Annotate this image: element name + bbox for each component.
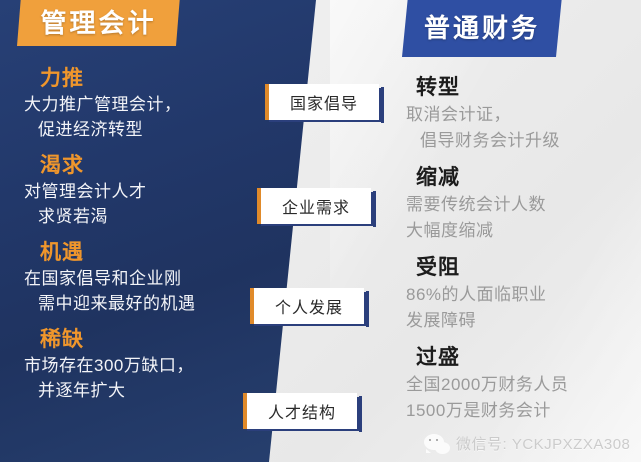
center-badge-label: 国家倡导 — [290, 90, 358, 114]
left-block-keyword: 稀缺 — [24, 327, 262, 353]
left-block: 力推 大力推广管理会计， 促进经济转型 — [0, 66, 262, 142]
left-block-line: 大力推广管理会计， — [24, 92, 262, 117]
left-block-line: 在国家倡导和企业刚 — [24, 266, 262, 291]
right-block-line: 大幅度缩减 — [392, 218, 641, 244]
right-block-line: 86%的人面临职业 — [392, 282, 641, 308]
left-panel-header-label: 管理会计 — [40, 3, 156, 40]
right-block-line: 1500万是财务会计 — [392, 398, 641, 424]
left-block: 渴求 对管理会计人才 求贤若渴 — [0, 153, 262, 229]
left-block: 机遇 在国家倡导和企业刚 需中迎来最好的机遇 — [0, 240, 262, 316]
left-panel-header: 管理会计 — [17, 0, 180, 46]
right-block: 缩减 需要传统会计人数 大幅度缩减 — [392, 164, 641, 244]
center-badge[interactable]: 国家倡导 — [265, 84, 379, 120]
right-block: 受阻 86%的人面临职业 发展障碍 — [392, 254, 641, 334]
left-block-line: 需中迎来最好的机遇 — [24, 291, 262, 316]
center-badge-label: 人才结构 — [268, 399, 336, 423]
left-block-line: 市场存在300万缺口， — [24, 353, 262, 378]
center-badge[interactable]: 企业需求 — [257, 188, 371, 224]
center-badge[interactable]: 人才结构 — [243, 393, 357, 429]
right-block-keyword: 转型 — [392, 74, 641, 102]
watermark-text: 微信号: YCKJPXZXA308 — [456, 433, 630, 454]
infographic-root: 管理会计 普通财务 力推 大力推广管理会计， 促进经济转型 渴求 对管理会计人才… — [0, 0, 641, 462]
left-panel-content: 力推 大力推广管理会计， 促进经济转型 渴求 对管理会计人才 求贤若渴 机遇 在… — [0, 66, 262, 414]
center-badge[interactable]: 个人发展 — [250, 288, 364, 324]
left-block-keyword: 机遇 — [24, 240, 262, 266]
right-block-line: 需要传统会计人数 — [392, 192, 641, 218]
left-block-keyword: 力推 — [24, 66, 262, 92]
right-panel-header: 普通财务 — [402, 0, 562, 57]
right-block-line: 取消会计证， — [392, 102, 641, 128]
right-block-keyword: 过盛 — [392, 344, 641, 372]
right-block-keyword: 缩减 — [392, 164, 641, 192]
right-block-line: 发展障碍 — [392, 308, 641, 334]
left-block: 稀缺 市场存在300万缺口， 并逐年扩大 — [0, 327, 262, 403]
watermark: 微信号: YCKJPXZXA308 — [424, 433, 630, 454]
left-block-line: 促进经济转型 — [24, 117, 262, 142]
left-block-line: 对管理会计人才 — [24, 179, 262, 204]
left-block-keyword: 渴求 — [24, 153, 262, 179]
right-panel-header-label: 普通财务 — [424, 8, 540, 45]
right-panel-content: 转型 取消会计证， 倡导财务会计升级 缩减 需要传统会计人数 大幅度缩减 受阻 … — [392, 74, 641, 434]
right-block-keyword: 受阻 — [392, 254, 641, 282]
right-block: 转型 取消会计证， 倡导财务会计升级 — [392, 74, 641, 154]
left-block-line: 求贤若渴 — [24, 204, 262, 229]
center-badge-label: 企业需求 — [282, 194, 350, 218]
right-block-line: 全国2000万财务人员 — [392, 372, 641, 398]
right-block-line: 倡导财务会计升级 — [392, 128, 641, 154]
wechat-icon — [424, 434, 450, 454]
center-badge-label: 个人发展 — [275, 294, 343, 318]
right-block: 过盛 全国2000万财务人员 1500万是财务会计 — [392, 344, 641, 424]
left-block-line: 并逐年扩大 — [24, 378, 262, 403]
